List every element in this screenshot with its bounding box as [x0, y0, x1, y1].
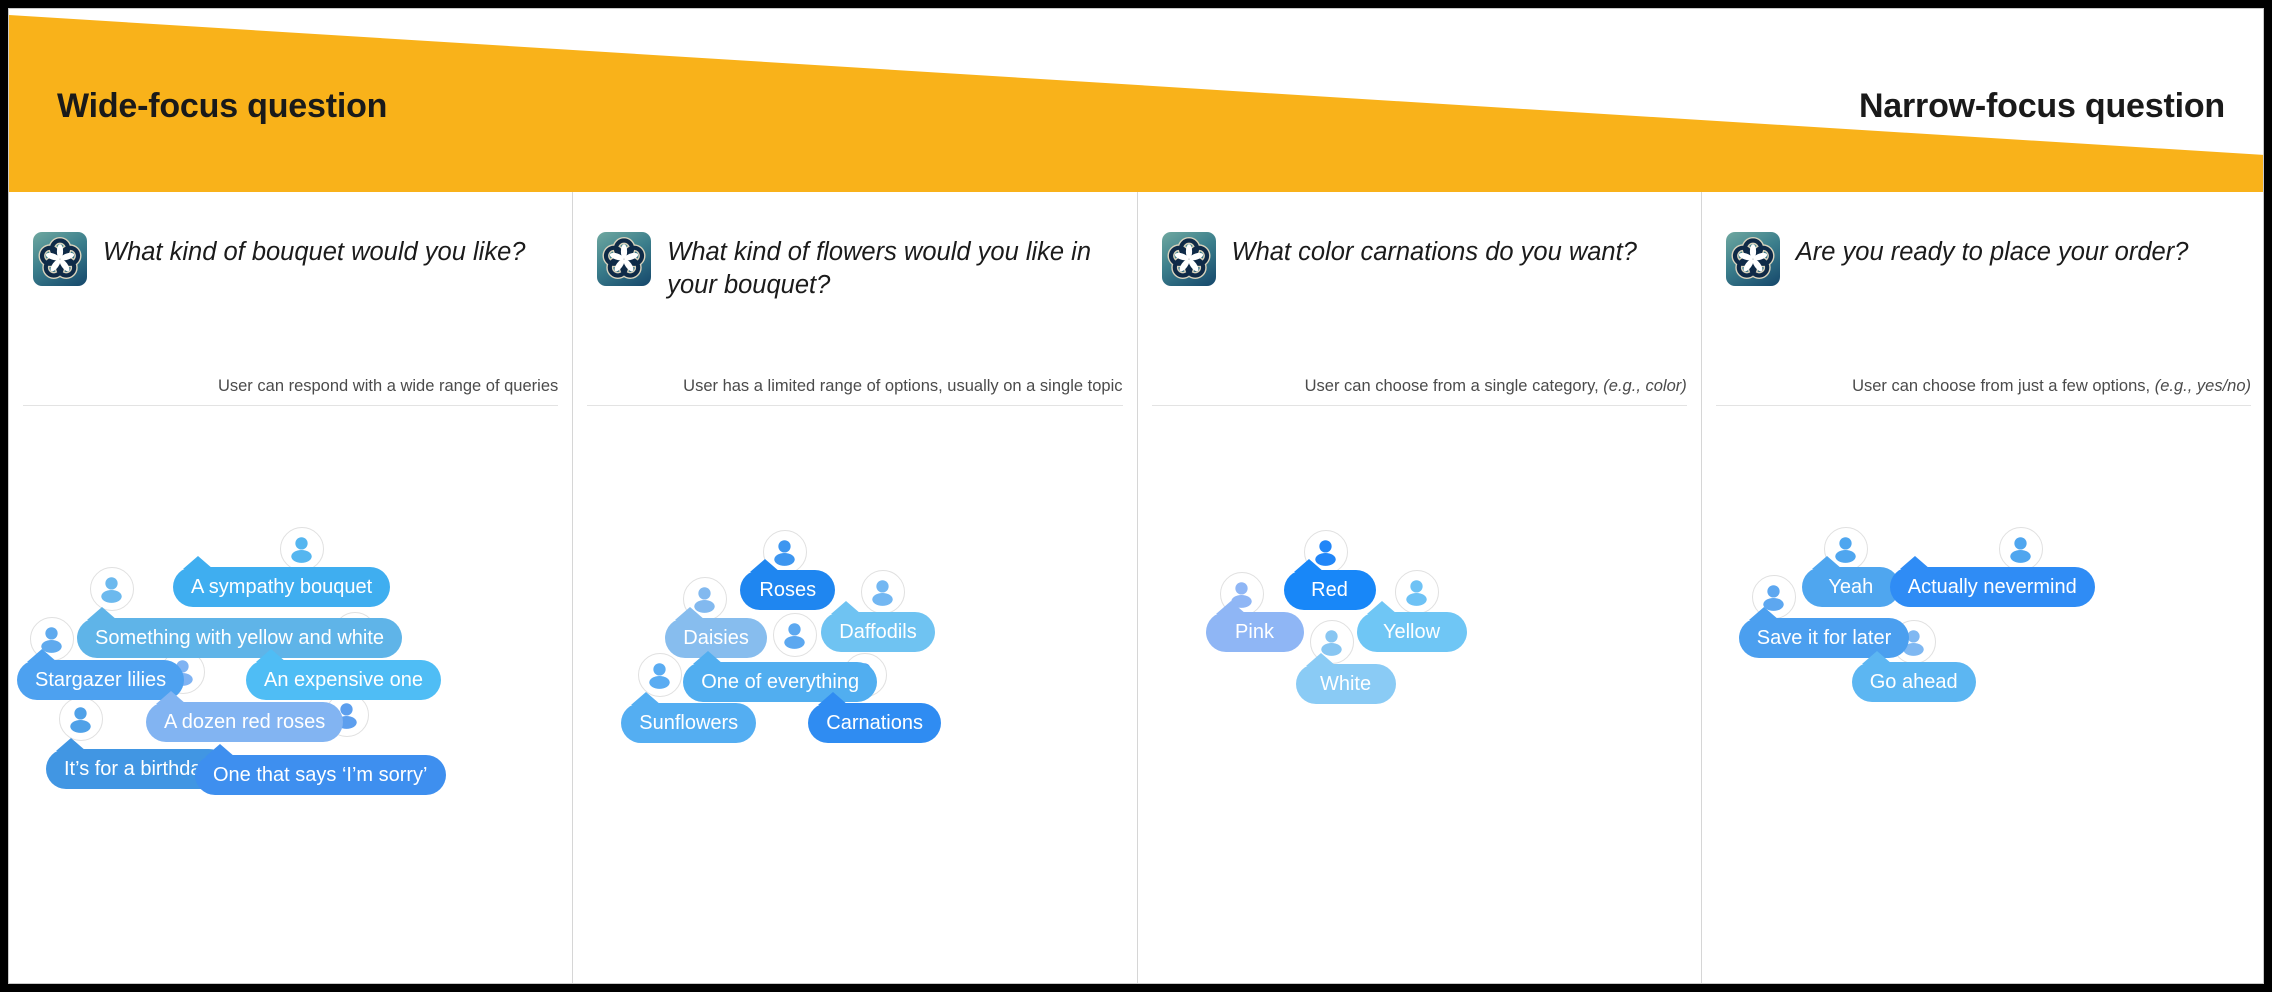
response-bubble-label: Carnations	[826, 713, 923, 733]
response-bubble[interactable]: Pink	[1206, 612, 1304, 652]
bubble-tail	[750, 559, 780, 572]
person-icon	[774, 614, 815, 655]
response-bubble[interactable]: An expensive one	[246, 660, 441, 700]
person-icon	[639, 654, 680, 695]
wide-focus-header-label: Wide-focus question	[57, 87, 387, 126]
bubble-tail	[693, 651, 723, 664]
bot-avatar	[1162, 232, 1216, 286]
question-text: What kind of bouquet would you like?	[103, 232, 525, 269]
flower-rosette-icon	[33, 232, 87, 286]
response-cluster: RedYellowPinkWhite	[1138, 422, 1701, 942]
question-text: Are you ready to place your order?	[1796, 232, 2189, 269]
response-bubble[interactable]: Carnations	[808, 703, 941, 743]
bubble-tail	[1367, 601, 1397, 614]
question-row: What kind of flowers would you like in y…	[597, 232, 1118, 301]
person-icon	[91, 568, 132, 609]
flower-rosette-icon	[597, 232, 651, 286]
bubble-tail	[1306, 653, 1336, 666]
response-bubble[interactable]: Roses	[740, 570, 835, 610]
response-bubble[interactable]: Yellow	[1357, 612, 1467, 652]
question-row: Are you ready to place your order?	[1726, 232, 2247, 286]
user-avatar	[280, 527, 324, 571]
user-avatar	[1999, 527, 2043, 571]
user-avatar	[638, 653, 682, 697]
column-wide-focus: What kind of bouquet would you like?User…	[9, 192, 573, 984]
bubble-tail	[1812, 556, 1842, 569]
response-bubble-label: Go ahead	[1870, 672, 1958, 692]
header-band: Wide-focus question Narrow-focus questio…	[9, 9, 2264, 192]
response-bubble[interactable]: Red	[1284, 570, 1376, 610]
caption-main-text: User can choose from a single category,	[1305, 377, 1604, 395]
response-bubble-label: Save it for later	[1757, 628, 1892, 648]
user-avatar	[1395, 570, 1439, 614]
bubble-tail	[675, 607, 705, 620]
response-bubble-label: Actually nevermind	[1908, 577, 2077, 597]
response-bubble-label: One of everything	[701, 672, 859, 692]
caption-wrapper: User can choose from a single category, …	[1152, 377, 1687, 406]
caption-main-text: User can choose from just a few options,	[1852, 377, 2155, 395]
response-bubble-label: Sunflowers	[639, 713, 738, 733]
response-bubble-label: One that says ‘I’m sorry’	[213, 765, 428, 785]
response-bubble[interactable]: Go ahead	[1852, 662, 1976, 702]
question-text: What color carnations do you want?	[1232, 232, 1637, 269]
response-bubble[interactable]: One that says ‘I’m sorry’	[195, 755, 446, 795]
bubble-tail	[1294, 559, 1324, 572]
column-caption: User can choose from just a few options,…	[1716, 377, 2251, 396]
user-avatar	[773, 613, 817, 657]
response-bubble[interactable]: Daffodils	[821, 612, 934, 652]
caption-wrapper: User can respond with a wide range of qu…	[23, 377, 558, 406]
caption-wrapper: User can choose from just a few options,…	[1716, 377, 2251, 406]
response-bubble-label: Daffodils	[839, 622, 916, 642]
response-bubble-label: Something with yellow and white	[95, 628, 384, 648]
response-bubble[interactable]: Sunflowers	[621, 703, 756, 743]
response-bubble[interactable]: Actually nevermind	[1890, 567, 2095, 607]
bot-avatar	[1726, 232, 1780, 286]
flower-rosette-icon	[1726, 232, 1780, 286]
flower-rosette-icon	[1162, 232, 1216, 286]
user-avatar	[59, 697, 103, 741]
response-bubble-label: An expensive one	[264, 670, 423, 690]
caption-example-text: (e.g., yes/no)	[2155, 377, 2251, 395]
caption-example-text: (e.g., color)	[1603, 377, 1686, 395]
bubble-tail	[205, 744, 235, 757]
response-bubble[interactable]: A sympathy bouquet	[173, 567, 390, 607]
response-bubble-label: Pink	[1235, 622, 1274, 642]
bubble-tail	[1216, 601, 1246, 614]
bubble-tail	[183, 556, 213, 569]
person-icon	[60, 698, 101, 739]
response-bubble[interactable]: White	[1296, 664, 1396, 704]
user-avatar	[90, 567, 134, 611]
response-bubble-label: Roses	[759, 580, 816, 600]
response-cluster: YeahActually nevermindSave it for laterG…	[1702, 422, 2264, 942]
response-bubble-label: Daisies	[683, 628, 749, 648]
column-caption: User has a limited range of options, usu…	[587, 377, 1122, 396]
response-cluster: RosesDaffodilsDaisiesOne of everythingSu…	[573, 422, 1136, 942]
person-icon	[281, 528, 322, 569]
bot-avatar	[33, 232, 87, 286]
response-bubble[interactable]: Yeah	[1802, 567, 1900, 607]
diagram-frame: Wide-focus question Narrow-focus questio…	[8, 8, 2264, 984]
user-avatar	[861, 570, 905, 614]
bubble-tail	[631, 692, 661, 705]
bubble-tail	[1749, 607, 1779, 620]
bubble-tail	[87, 607, 117, 620]
bot-avatar	[597, 232, 651, 286]
response-bubble-label: A sympathy bouquet	[191, 577, 372, 597]
caption-main-text: User has a limited range of options, usu…	[683, 377, 1122, 395]
response-bubble-label: Red	[1311, 580, 1348, 600]
bubble-tail	[156, 691, 186, 704]
person-icon	[2000, 528, 2041, 569]
bubble-tail	[56, 738, 86, 751]
caption-main-text: User can respond with a wide range of qu…	[218, 377, 558, 395]
response-bubble-label: Yeah	[1828, 577, 1873, 597]
question-row: What kind of bouquet would you like?	[33, 232, 554, 286]
columns-container: What kind of bouquet would you like?User…	[9, 192, 2264, 984]
bubble-tail	[1900, 556, 1930, 569]
person-icon	[1396, 571, 1437, 612]
column-caption: User can respond with a wide range of qu…	[23, 377, 558, 396]
response-cluster: A sympathy bouquetSomething with yellow …	[9, 422, 572, 942]
column-caption: User can choose from a single category, …	[1152, 377, 1687, 396]
bubble-tail	[831, 601, 861, 614]
response-bubble-label: White	[1320, 674, 1371, 694]
response-bubble[interactable]: A dozen red roses	[146, 702, 343, 742]
column-single-category: What color carnations do you want?User c…	[1138, 192, 1702, 984]
narrow-focus-header-label: Narrow-focus question	[1859, 87, 2225, 126]
response-bubble-label: A dozen red roses	[164, 712, 325, 732]
column-limited-range: What kind of flowers would you like in y…	[573, 192, 1137, 984]
question-row: What color carnations do you want?	[1162, 232, 1683, 286]
bubble-tail	[818, 692, 848, 705]
bubble-tail	[1862, 651, 1892, 664]
response-bubble-label: Stargazer lilies	[35, 670, 166, 690]
person-icon	[862, 571, 903, 612]
response-bubble-label: It’s for a birthday	[64, 759, 211, 779]
response-bubble[interactable]: Something with yellow and white	[77, 618, 402, 658]
question-text: What kind of flowers would you like in y…	[667, 232, 1118, 301]
bubble-tail	[27, 649, 57, 662]
caption-wrapper: User has a limited range of options, usu…	[587, 377, 1122, 406]
column-few-options: Are you ready to place your order?User c…	[1702, 192, 2264, 984]
response-bubble-label: Yellow	[1383, 622, 1440, 642]
bubble-tail	[256, 649, 286, 662]
